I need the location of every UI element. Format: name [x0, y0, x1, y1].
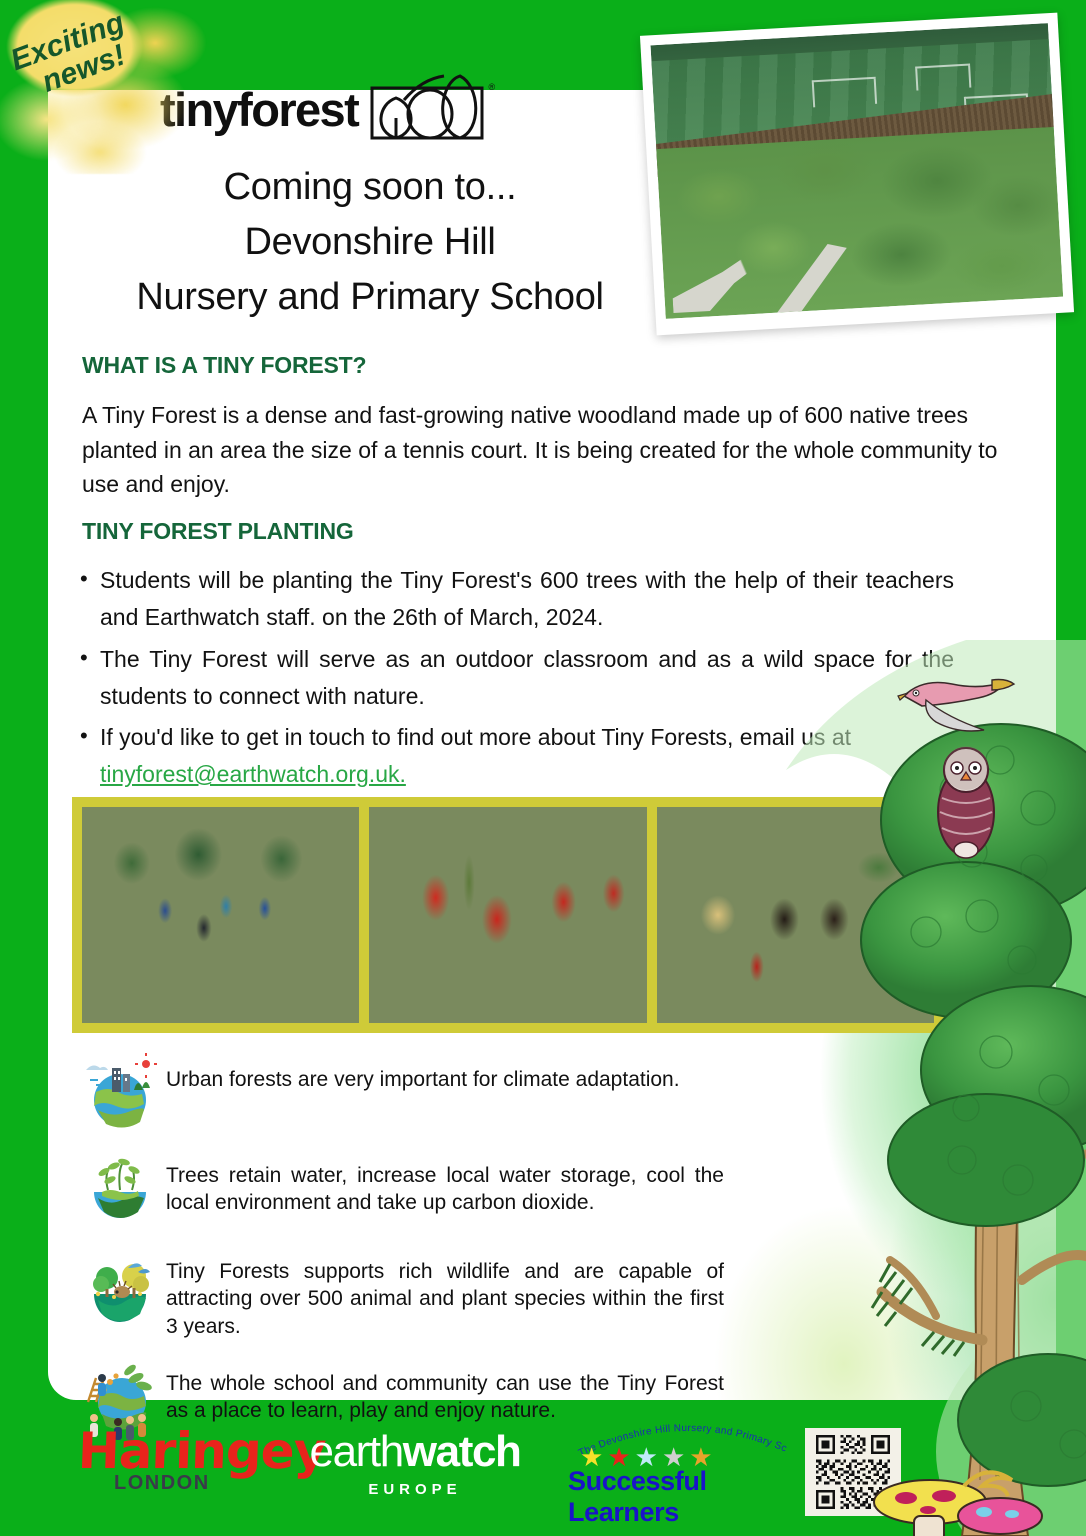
earth-wildlife-icon	[74, 1244, 166, 1324]
section-heading-what-is-a-tiny-forest: WHAT IS A TINY FOREST?	[82, 352, 366, 379]
section-heading-tiny-forest-planting: TINY FOREST PLANTING	[82, 518, 354, 545]
photo-strip-image-3	[657, 807, 934, 1023]
earthwatch-europe-logo: earthwatch EUROPE	[300, 1430, 530, 1498]
headline-line-2: Devonshire Hill	[70, 215, 670, 270]
benefit-row: Trees retain water, increase local water…	[74, 1148, 724, 1228]
earthwatch-part-1: earth	[310, 1427, 403, 1476]
footer: Haringey LONDON earthwatch EUROPE The De…	[0, 1400, 1086, 1536]
hero-goal-2	[915, 63, 972, 91]
hero-photo	[640, 13, 1074, 336]
earthwatch-wordmark: earthwatch	[300, 1430, 530, 1474]
benefits-list: Urban forests are very important for cli…	[74, 1052, 724, 1452]
haringey-london-logo: Haringey LONDON	[78, 1426, 325, 1476]
benefit-text: Urban forests are very important for cli…	[166, 1052, 680, 1093]
list-item-text: If you'd like to get in touch to find ou…	[100, 724, 851, 750]
headline-line-3: Nursery and Primary School	[70, 270, 670, 325]
page-title: Coming soon to... Devonshire Hill Nurser…	[70, 160, 670, 325]
earth-city-climate-icon	[74, 1052, 166, 1132]
list-item: The Tiny Forest will serve as an outdoor…	[74, 641, 954, 716]
devonshire-hill-school-logo: The Devonshire Hill Nursery and Primary …	[560, 1422, 800, 1502]
photo-strip	[72, 797, 944, 1033]
benefit-row: Urban forests are very important for cli…	[74, 1052, 724, 1132]
what-is-a-tiny-forest-body: A Tiny Forest is a dense and fast-growin…	[82, 398, 1012, 502]
hero-photo-image	[650, 23, 1063, 319]
benefit-row: Tiny Forests supports rich wildlife and …	[74, 1244, 724, 1340]
qr-code-icon[interactable]	[805, 1428, 901, 1516]
exciting-news-badge: Exciting news!	[0, 0, 206, 174]
photo-strip-image-1	[82, 807, 359, 1023]
hero-goal-1	[812, 77, 877, 108]
planting-bullet-list: Students will be planting the Tiny Fores…	[74, 562, 954, 798]
tinyforest-logo: tinyforest ®	[160, 72, 580, 146]
benefit-text: Tiny Forests supports rich wildlife and …	[166, 1244, 724, 1340]
earth-water-plants-icon	[74, 1148, 166, 1228]
poster-root: Exciting news! tinyforest	[0, 0, 1086, 1536]
benefit-text: Trees retain water, increase local water…	[166, 1148, 724, 1217]
tinyforest-trees-logo-icon: ®	[368, 74, 486, 144]
earthwatch-region-label: EUROPE	[300, 1481, 530, 1498]
email-link[interactable]: tinyforest@earthwatch.org.uk.	[100, 761, 406, 787]
earthwatch-part-2: watch	[403, 1427, 521, 1476]
school-motto: Successful Learners	[568, 1466, 800, 1528]
registered-trademark-icon: ®	[489, 82, 496, 92]
haringey-wordmark: Haringey	[77, 1426, 326, 1476]
haringey-london-label: LONDON	[114, 1472, 210, 1495]
photo-strip-image-2	[369, 807, 646, 1023]
list-item: If you'd like to get in touch to find ou…	[74, 719, 954, 794]
list-item: Students will be planting the Tiny Fores…	[74, 562, 954, 637]
